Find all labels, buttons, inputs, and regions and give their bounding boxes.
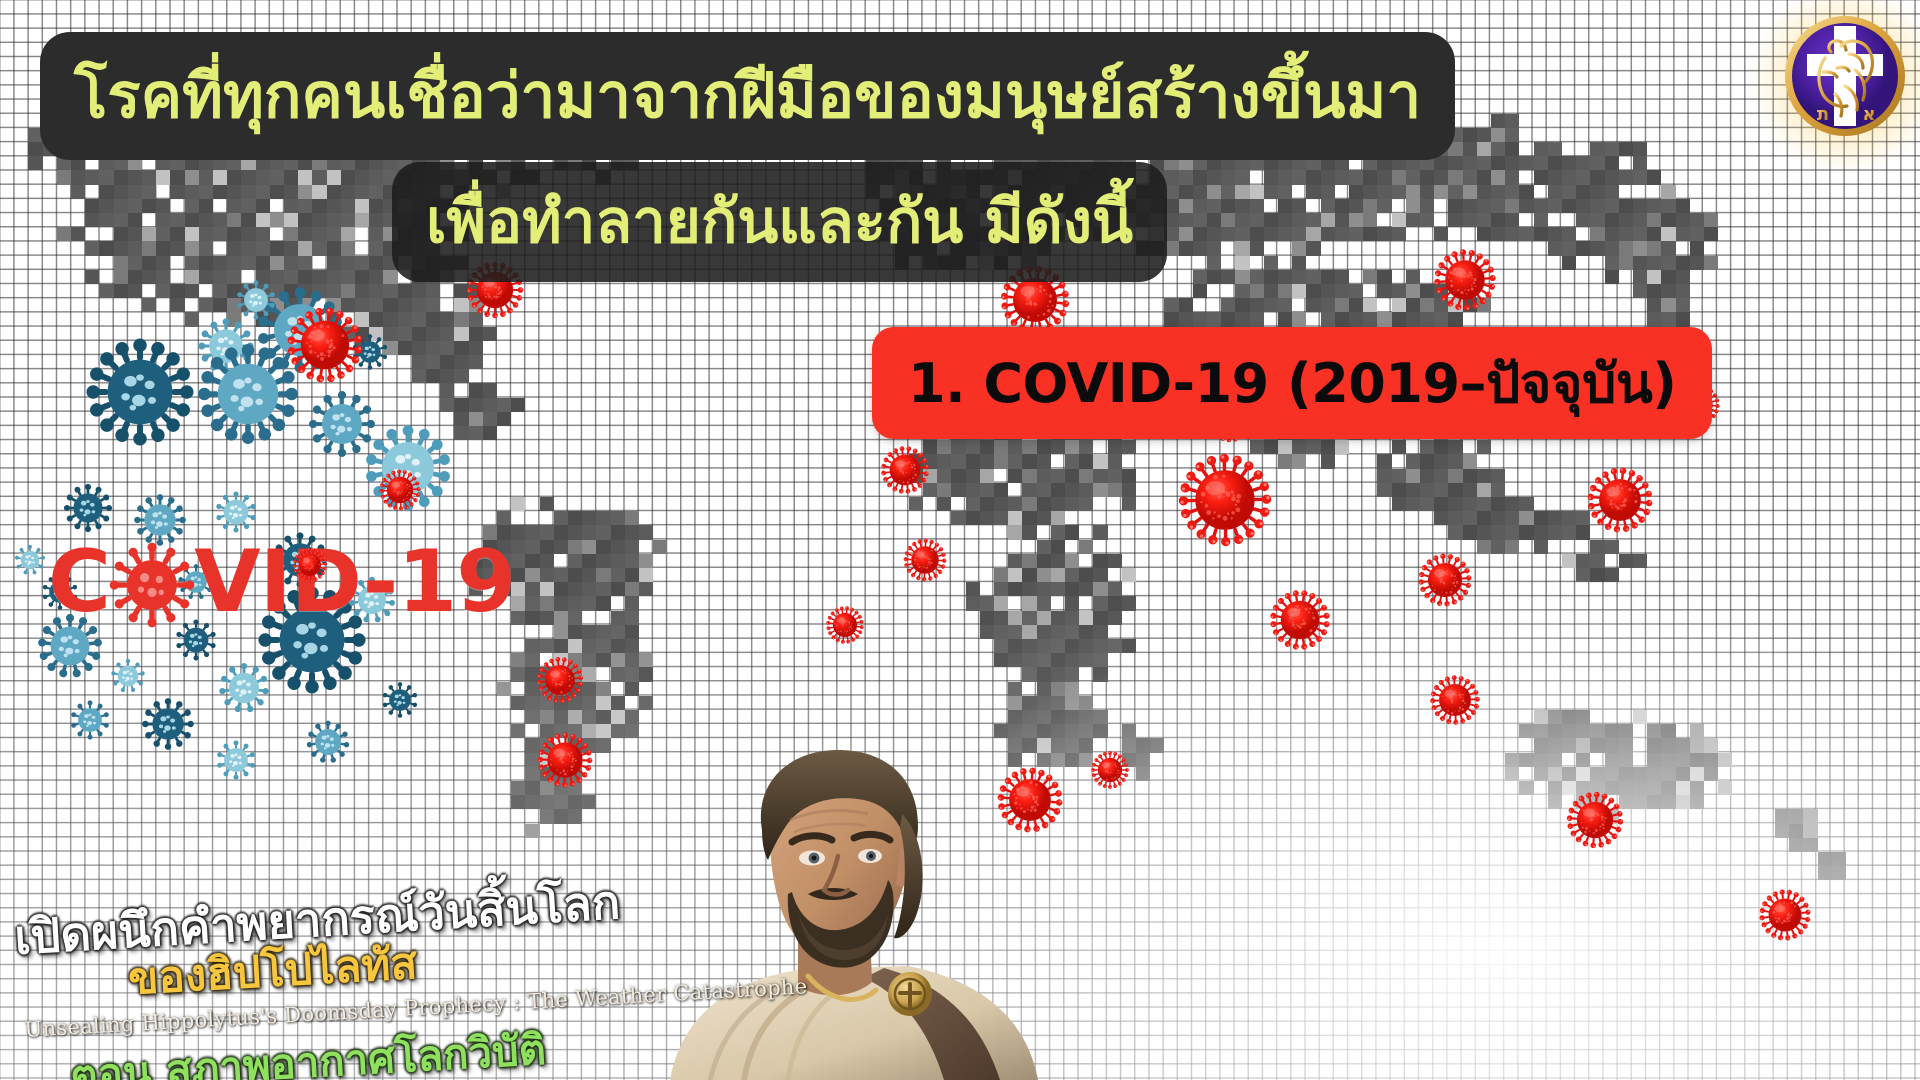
- thumbnail-canvas: C: [0, 0, 1920, 1080]
- headline-line1: โรคที่ทุกคนเชื่อว่ามาจากฝีมือของมนุษย์สร…: [74, 63, 1421, 128]
- headline-panel-line2: เพื่อทำลายกันและกัน มีดังนี้: [392, 162, 1167, 282]
- covid-wordmark: C: [48, 536, 515, 628]
- coronavirus-teal-icon: [80, 332, 200, 452]
- coronavirus-red-icon: [281, 301, 369, 389]
- logo-hebrew-tav: ת: [1817, 104, 1829, 125]
- coronavirus-teal-icon: [139, 695, 197, 753]
- coronavirus-red-icon: [1755, 885, 1815, 945]
- coronavirus-red-icon: [1088, 748, 1132, 792]
- coronavirus-red-icon: [376, 466, 424, 514]
- coronavirus-red-icon: [1582, 462, 1658, 538]
- coronavirus-red-icon: [877, 442, 933, 498]
- coronavirus-red-icon: [290, 545, 330, 585]
- headline-line2: เพื่อทำลายกันและกัน มีดังนี้: [426, 191, 1133, 254]
- logo-hebrew-aleph: א: [1862, 104, 1875, 125]
- coronavirus-red-icon: [1429, 244, 1501, 316]
- coronavirus-teal-icon: [68, 698, 112, 742]
- coronavirus-teal-icon: [61, 481, 115, 535]
- disease-item-badge[interactable]: 1. COVID-19 (2019–ปัจจุบัน): [872, 327, 1712, 439]
- covid-wordmark-prefix: C: [48, 539, 110, 625]
- coronavirus-red-icon: [1265, 585, 1335, 655]
- coronavirus-red-icon: [1562, 787, 1628, 853]
- hippolytus-portrait: [648, 744, 1054, 1080]
- coronavirus-red-icon: [823, 603, 867, 647]
- coronavirus-teal-icon: [304, 718, 352, 766]
- disease-item-label: 1. COVID-19 (2019–ปัจจุบัน): [908, 340, 1676, 426]
- coronavirus-red-icon: [533, 728, 597, 792]
- ministry-logo[interactable]: ת א: [1779, 10, 1911, 142]
- coronavirus-teal-icon: [214, 738, 258, 782]
- show-title-block: เปิดผนึกคำพยากรณ์วันสิ้นโลก ของฮิปโปไลทั…: [0, 880, 700, 1080]
- coronavirus-teal-icon: [213, 489, 259, 535]
- coronavirus-red-icon: [1414, 549, 1476, 611]
- coronavirus-teal-icon: [380, 680, 420, 720]
- headline-panel-line1: โรคที่ทุกคนเชื่อว่ามาจากฝีมือของมนุษย์สร…: [40, 32, 1455, 160]
- coronavirus-red-icon: [1171, 446, 1279, 554]
- coronavirus-red-icon: [533, 653, 587, 707]
- coronavirus-teal-icon: [13, 543, 47, 577]
- coronavirus-red-icon: [106, 539, 198, 631]
- coronavirus-teal-icon: [109, 657, 147, 695]
- coronavirus-red-icon: [1426, 671, 1484, 729]
- coronavirus-teal-icon: [234, 278, 278, 322]
- covid-wordmark-suffix: VID-19: [194, 539, 515, 625]
- coronavirus-red-icon: [900, 535, 950, 585]
